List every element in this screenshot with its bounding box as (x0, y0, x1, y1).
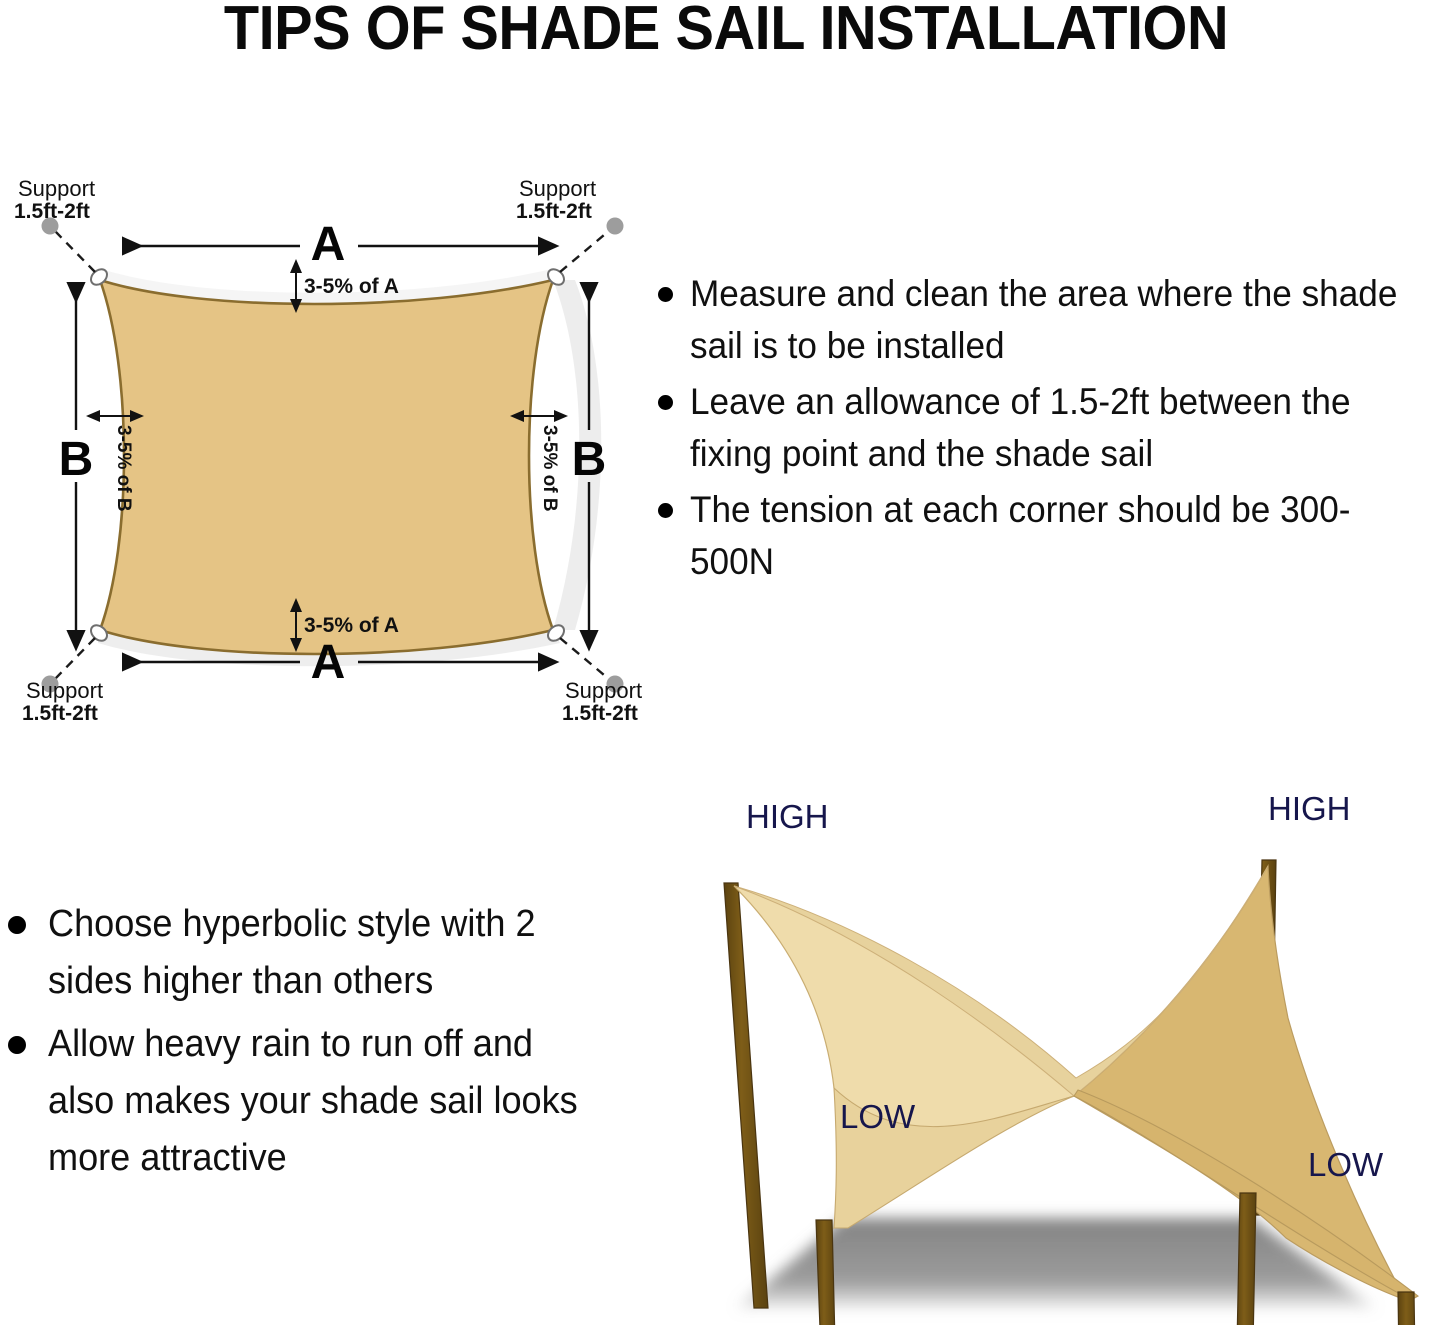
dimension-label-bottom-a: A (311, 636, 346, 689)
label-low-front-left: LOW (840, 1098, 916, 1135)
post-front-mid-right (1236, 1193, 1256, 1325)
page-root: TIPS OF SHADE SAIL INSTALLATION (0, 0, 1452, 1325)
support-dot-top-right (607, 218, 624, 235)
curve-label-right: 3-5% of B (539, 425, 560, 512)
post-back-left (724, 883, 768, 1308)
support-label-top-left-line2: 1.5ft-2ft (14, 200, 90, 223)
curve-label-bottom: 3-5% of A (304, 614, 399, 637)
tie-line-bottom-right (560, 638, 610, 680)
list-item: Choose hyperbolic style with 2 sides hig… (0, 896, 630, 1010)
support-label-bottom-right-line1: Support (565, 678, 642, 703)
tie-line-top-right (560, 230, 610, 272)
bullet-dot-icon (8, 916, 26, 934)
bullet-dot-icon (658, 503, 673, 518)
support-label-top-right-line2: 1.5ft-2ft (516, 200, 592, 223)
bullet-dot-icon (658, 395, 673, 410)
list-item: Allow heavy rain to run off and also mak… (0, 1016, 630, 1187)
page-title: TIPS OF SHADE SAIL INSTALLATION (51, 0, 1401, 64)
tie-line-top-left (54, 230, 95, 272)
dimension-label-left-b: B (59, 433, 94, 486)
list-item-label: The tension at each corner should be 300… (690, 484, 1414, 588)
support-label-top-left-line1: Support (18, 176, 95, 201)
bullet-dot-icon (8, 1036, 26, 1054)
hyperbolic-sail-diagram: HIGH HIGH LOW LOW (676, 788, 1452, 1325)
bullet-list: Measure and clean the area where the sha… (648, 268, 1452, 588)
support-label-bottom-right-line2: 1.5ft-2ft (562, 702, 638, 725)
label-high-left: HIGH (746, 798, 829, 835)
dimension-label-top-a: A (311, 218, 346, 271)
installation-tips-list-top: Measure and clean the area where the sha… (648, 268, 1452, 592)
label-high-right: HIGH (1268, 790, 1351, 827)
installation-tips-list-bottom: Choose hyperbolic style with 2 sides hig… (0, 896, 630, 1193)
list-item-label: Measure and clean the area where the sha… (690, 268, 1414, 372)
list-item-label: Choose hyperbolic style with 2 sides hig… (48, 896, 601, 1010)
bullet-list: Choose hyperbolic style with 2 sides hig… (0, 896, 630, 1187)
tie-line-bottom-left (54, 638, 95, 680)
list-item-label: Leave an allowance of 1.5-2ft between th… (690, 376, 1414, 480)
curve-label-left: 3-5% of B (113, 425, 134, 512)
rect-sail-diagram: Support 1.5ft-2ft Support 1.5ft-2ft Supp… (0, 160, 670, 740)
dimension-label-right-b: B (572, 433, 607, 486)
sail-body (100, 280, 553, 654)
support-label-bottom-left-line1: Support (26, 678, 103, 703)
curve-label-top: 3-5% of A (304, 275, 399, 298)
support-label-top-right-line1: Support (519, 176, 596, 201)
support-label-bottom-left-line2: 1.5ft-2ft (22, 702, 98, 725)
list-item: Measure and clean the area where the sha… (648, 268, 1452, 372)
bullet-dot-icon (658, 287, 673, 302)
list-item-label: Allow heavy rain to run off and also mak… (48, 1016, 601, 1187)
label-low-front-right: LOW (1308, 1146, 1384, 1183)
list-item: Leave an allowance of 1.5-2ft between th… (648, 376, 1452, 480)
list-item: The tension at each corner should be 300… (648, 484, 1452, 588)
